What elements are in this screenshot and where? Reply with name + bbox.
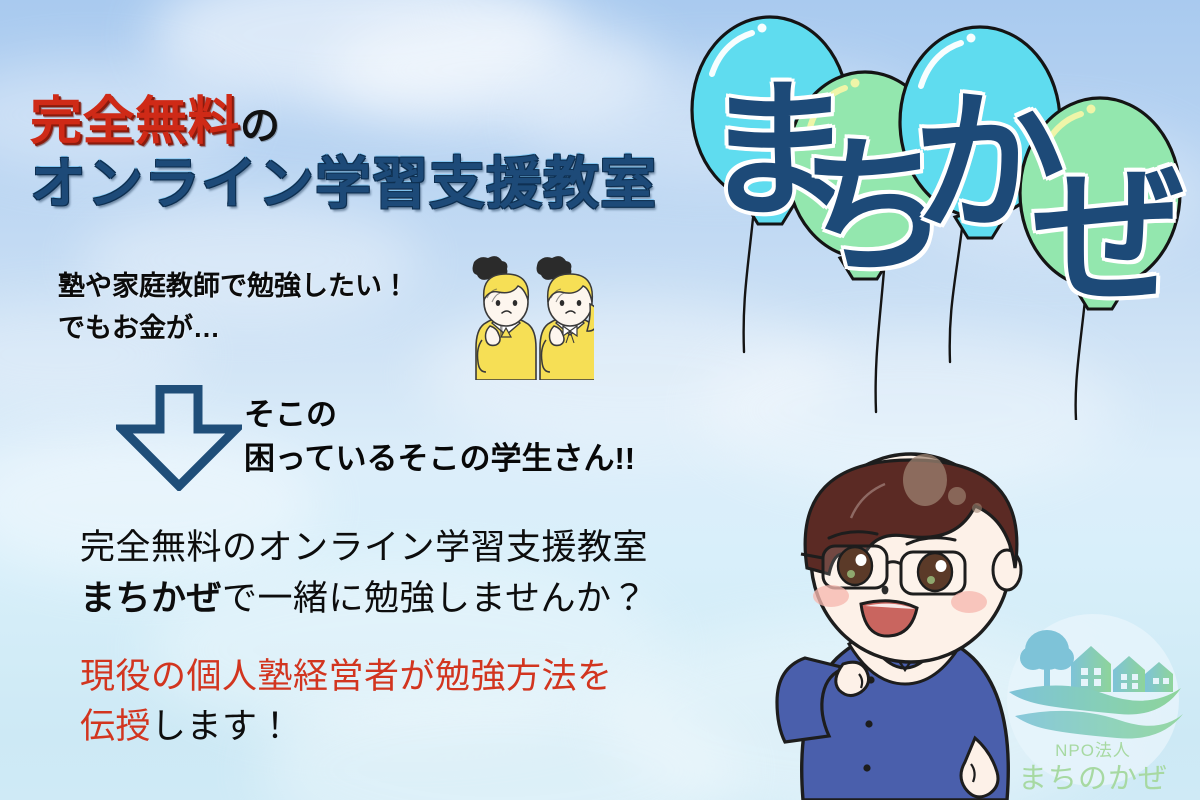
- poster-canvas: ま ち か ぜ 完全無料の オンライン学習支援教室 塾や家庭教師で勉強したい！ …: [0, 0, 1200, 800]
- headline-free-line: 完全無料の: [30, 96, 657, 148]
- body-line-2: まちかぜで一緒に勉強しませんか？: [80, 573, 648, 624]
- body-line-2-rest: で一緒に勉強しませんか？: [222, 579, 647, 618]
- balloon-string: [744, 218, 753, 352]
- promo-line-1: 現役の個人塾経営者が勉強方法を: [80, 652, 613, 702]
- promo-line-2-red: 伝授: [80, 707, 151, 746]
- balloon-string: [950, 228, 962, 362]
- headline-block: 完全無料の オンライン学習支援教室: [30, 96, 657, 214]
- body-brand-name: まちかぜ: [80, 579, 222, 618]
- headline-free-text: 完全無料: [30, 93, 240, 151]
- thumbs-up-hand: [836, 662, 869, 695]
- callout-block: そこの 困っているそこの学生さん!!: [244, 393, 635, 481]
- headline-free-suffix: の: [240, 104, 281, 148]
- logo-org-name: まちのかぜ: [1018, 763, 1168, 795]
- balloon-string: [1076, 300, 1085, 420]
- worried-schoolgirl: [540, 274, 594, 380]
- promo-block: 現役の個人塾経営者が勉強方法を 伝授します！: [80, 652, 613, 751]
- worry-block: 塾や家庭教師で勉強したい！ でもお金が…: [58, 266, 409, 350]
- callout-line-2: 困っているそこの学生さん!!: [244, 437, 635, 481]
- body-block: 完全無料のオンライン学習支援教室 まちかぜで一緒に勉強しませんか？: [80, 522, 648, 624]
- balloon-ze: [1020, 98, 1180, 309]
- down-arrow-icon: [116, 385, 242, 496]
- promo-line-2-black: します！: [151, 707, 293, 746]
- worried-students-illustration: [462, 252, 594, 385]
- worried-schoolboy: [476, 274, 536, 380]
- logo-npo-machinokaze: NPO法人 まちのかぜ: [995, 612, 1191, 800]
- promo-line-2: 伝授します！: [80, 702, 613, 752]
- headline-subtitle: オンライン学習支援教室: [30, 154, 657, 214]
- worry-line-1: 塾や家庭教師で勉強したい！: [58, 266, 409, 308]
- body-line-1: 完全無料のオンライン学習支援教室: [80, 522, 648, 573]
- logo-org-prefix: NPO法人: [1055, 741, 1131, 760]
- balloon-string: [876, 270, 884, 412]
- callout-line-1: そこの: [244, 393, 635, 437]
- worry-line-2: でもお金が…: [58, 308, 409, 350]
